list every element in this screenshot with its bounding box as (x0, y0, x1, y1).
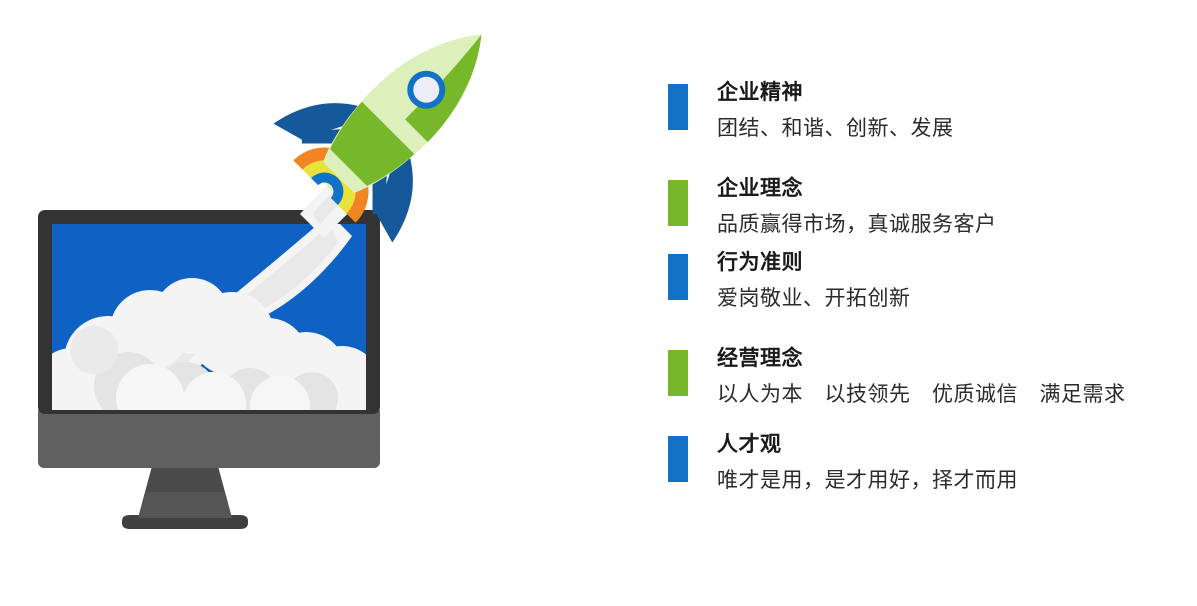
value-heading: 企业精神 (717, 78, 1175, 108)
monitor-base-icon (38, 406, 380, 468)
value-body: 团结、和谐、创新、发展 (717, 114, 1175, 144)
value-body: 唯才是用，是才用好，择才而用 (717, 466, 1175, 496)
value-body: 爱岗敬业、开拓创新 (717, 284, 1175, 314)
value-item-enterprise-spirit: 企业精神 团结、和谐、创新、发展 (655, 78, 1175, 144)
value-item-talent-outlook: 人才观 唯才是用，是才用好，择才而用 (655, 430, 1175, 496)
value-heading: 经营理念 (717, 344, 1175, 374)
monitor-stand-highlight-icon (138, 492, 232, 518)
value-heading: 人才观 (717, 430, 1175, 460)
company-values-list: 企业精神 团结、和谐、创新、发展 企业理念 品质赢得市场，真诚服务客户 行为准则… (655, 78, 1175, 510)
rocket-monitor-illustration (0, 0, 560, 606)
slide-canvas: 企业精神 团结、和谐、创新、发展 企业理念 品质赢得市场，真诚服务客户 行为准则… (0, 0, 1197, 606)
value-item-code-of-conduct: 行为准则 爱岗敬业、开拓创新 (655, 248, 1175, 314)
smoke-shade-icon (70, 326, 118, 374)
value-item-business-philosophy: 经营理念 以人为本 以技领先 优质诚信 满足需求 (655, 344, 1175, 410)
value-heading: 行为准则 (717, 248, 1175, 278)
value-heading: 企业理念 (717, 174, 1175, 204)
value-item-enterprise-philosophy: 企业理念 品质赢得市场，真诚服务客户 (655, 174, 1175, 240)
accent-bar-green (668, 180, 688, 226)
value-body: 品质赢得市场，真诚服务客户 (717, 210, 1175, 240)
accent-bar-blue (668, 436, 688, 482)
value-body: 以人为本 以技领先 优质诚信 满足需求 (717, 380, 1175, 410)
accent-bar-blue (668, 84, 688, 130)
accent-bar-green (668, 350, 688, 396)
accent-bar-blue (668, 254, 688, 300)
